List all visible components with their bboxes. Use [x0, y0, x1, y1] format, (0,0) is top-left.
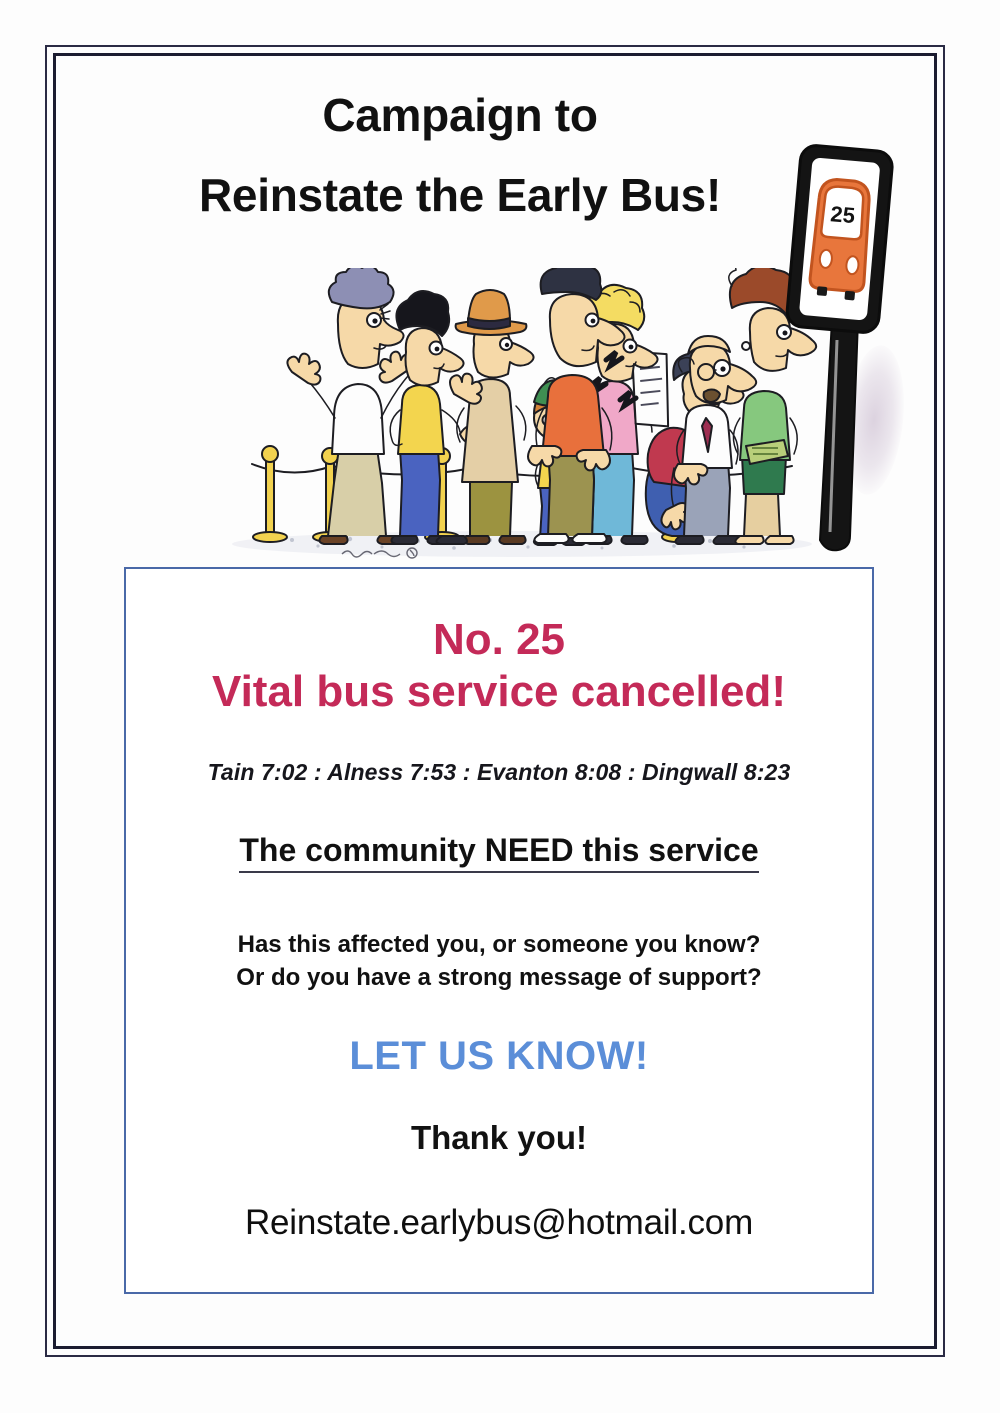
community-need-line: The community NEED this service	[239, 832, 758, 873]
service-number: No. 25	[126, 617, 872, 663]
question-block: Has this affected you, or someone you kn…	[126, 929, 872, 994]
question-line-1: Has this affected you, or someone you kn…	[126, 929, 872, 961]
contact-email[interactable]: Reinstate.earlybus@hotmail.com	[126, 1203, 872, 1243]
queue-of-people-cartoon: .ol { stroke:#1d1d22; stroke-width:2; st…	[222, 268, 822, 563]
bus-stop-sign-icon: 25	[780, 140, 900, 560]
call-to-action: LET US KNOW!	[126, 1034, 872, 1079]
timetable-line: Tain 7:02 : Alness 7:53 : Evanton 8:08 :…	[126, 759, 872, 786]
poster-heading: Campaign to Reinstate the Early Bus!	[80, 92, 840, 218]
poster-page: Campaign to Reinstate the Early Bus! 25	[0, 0, 1000, 1413]
thank-you-line: Thank you!	[126, 1119, 872, 1157]
cancelled-headline: Vital bus service cancelled!	[126, 669, 872, 715]
community-need-wrapper: The community NEED this service	[126, 786, 872, 873]
message-box: No. 25 Vital bus service cancelled! Tain…	[124, 567, 874, 1294]
bus-sign-route-number: 25	[829, 201, 856, 228]
headline-line-1: Campaign to	[80, 92, 840, 138]
question-line-2: Or do you have a strong message of suppo…	[126, 962, 872, 994]
headline-line-2: Reinstate the Early Bus!	[80, 172, 840, 218]
